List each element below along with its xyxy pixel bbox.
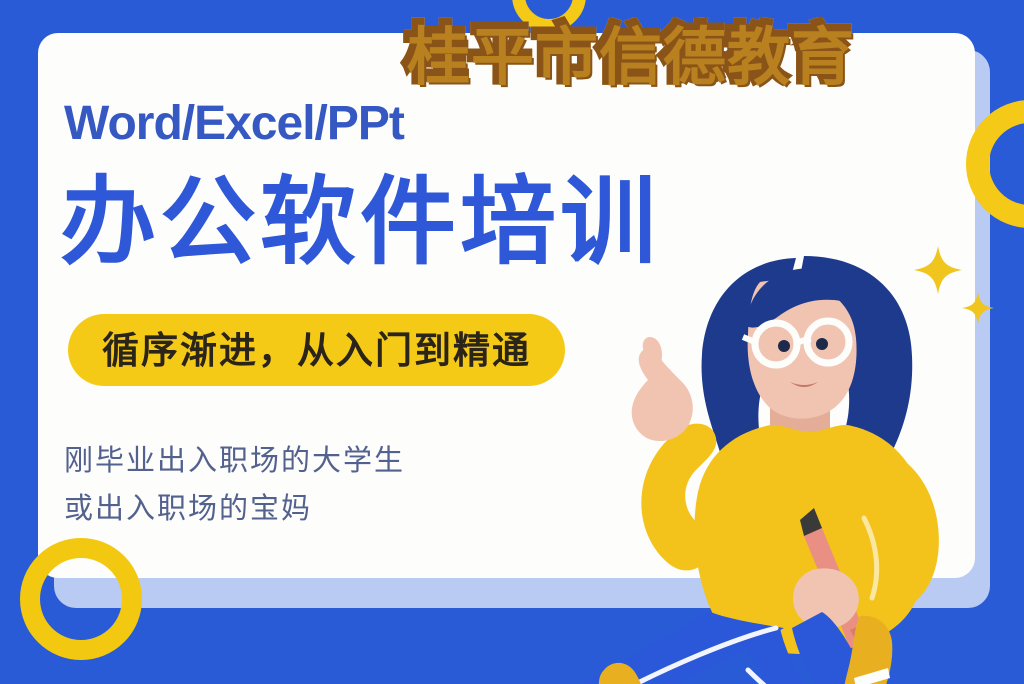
hand-pointing (632, 349, 693, 441)
woman-illustration (560, 230, 1024, 684)
decorative-ring-bottom-left (20, 538, 142, 660)
audience-line: 刚毕业出入职场的大学生 (64, 436, 405, 484)
tagline-pill-text: 循序渐进，从入门到精通 (102, 332, 531, 369)
audience-description: 刚毕业出入职场的大学生 或出入职场的宝妈 (64, 436, 405, 532)
headline-english: Word/Excel/PPt (64, 100, 404, 148)
tagline-pill: 循序渐进，从入门到精通 (68, 314, 565, 386)
promotional-poster: 桂平市信德教育 Word/Excel/PPt 办公软件培训 循序渐进，从入门到精… (0, 0, 1024, 684)
audience-line: 或出入职场的宝妈 (64, 484, 405, 532)
organization-banner-text: 桂平市信德教育 (404, 17, 852, 90)
organization-banner: 桂平市信德教育 (404, 22, 852, 85)
